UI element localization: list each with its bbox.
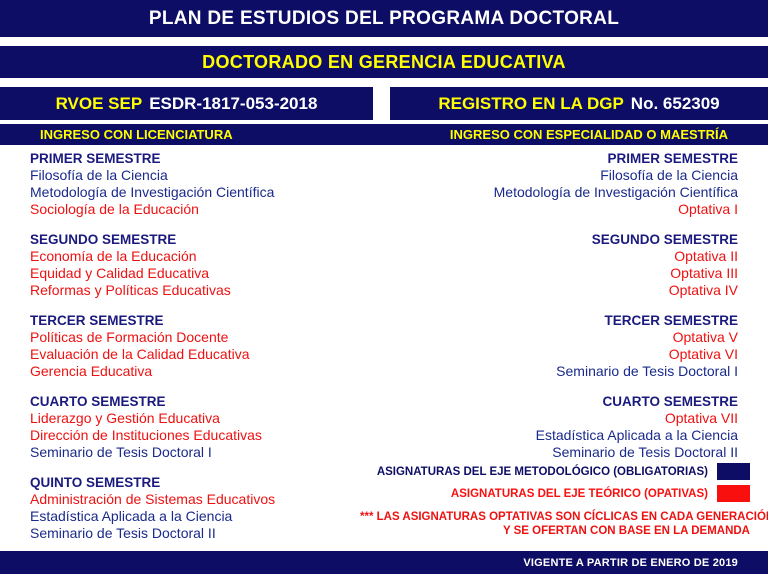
semester-block: SEGUNDO SEMESTREEconomía de la Educación… xyxy=(30,231,370,299)
semester-title: QUINTO SEMESTRE xyxy=(30,474,370,491)
semester-block: TERCER SEMESTREOptativa VOptativa VISemi… xyxy=(398,312,738,380)
course-item: Políticas de Formación Docente xyxy=(30,329,370,346)
semester-title: TERCER SEMESTRE xyxy=(398,312,738,329)
course-item: Metodología de Investigación Científica xyxy=(398,184,738,201)
semester-title: SEGUNDO SEMESTRE xyxy=(398,231,738,248)
course-item: Reformas y Políticas Educativas xyxy=(30,282,370,299)
legend-rows: ASIGNATURAS DEL EJE METODOLÓGICO (OBLIGA… xyxy=(360,462,750,503)
course-item: Estadística Aplicada a la Ciencia xyxy=(398,427,738,444)
course-item: Estadística Aplicada a la Ciencia xyxy=(30,508,370,525)
semester-block: PRIMER SEMESTREFilosofía de la CienciaMe… xyxy=(398,150,738,218)
semester-block: CUARTO SEMESTREOptativa VIIEstadística A… xyxy=(398,393,738,461)
dgp-label: REGISTRO EN LA DGP xyxy=(438,94,623,114)
course-item: Sociología de la Educación xyxy=(30,201,370,218)
course-item: Liderazgo y Gestión Educativa xyxy=(30,410,370,427)
semester-title: CUARTO SEMESTRE xyxy=(30,393,370,410)
course-item: Optativa VI xyxy=(398,346,738,363)
page-title: PLAN DE ESTUDIOS DEL PROGRAMA DOCTORAL xyxy=(149,8,619,30)
course-item: Optativa I xyxy=(398,201,738,218)
legend-row: ASIGNATURAS DEL EJE TEÓRICO (OPATIVAS) xyxy=(360,484,750,503)
course-item: Filosofía de la Ciencia xyxy=(30,167,370,184)
semester-block: PRIMER SEMESTREFilosofía de la CienciaMe… xyxy=(30,150,370,218)
legend-color-swatch xyxy=(717,463,750,480)
validity-text: VIGENTE A PARTIR DE ENERO DE 2019 xyxy=(523,557,738,569)
course-item: Gerencia Educativa xyxy=(30,363,370,380)
legend-note-line-2: Y SE OFERTAN CON BASE EN LA DEMANDA xyxy=(360,524,750,538)
ingreso-bar: INGRESO CON LICENCIATURA INGRESO CON ESP… xyxy=(0,124,768,145)
curriculum-column-maestria: PRIMER SEMESTREFilosofía de la CienciaMe… xyxy=(398,150,738,474)
course-item: Optativa V xyxy=(398,329,738,346)
semester-block: TERCER SEMESTREPolíticas de Formación Do… xyxy=(30,312,370,380)
ingreso-left-label: INGRESO CON LICENCIATURA xyxy=(40,127,233,142)
course-item: Optativa VII xyxy=(398,410,738,427)
program-title-bar: DOCTORADO EN GERENCIA EDUCATIVA xyxy=(0,46,768,78)
legend-note-line-1: *** LAS ASIGNATURAS OPTATIVAS SON CÍCLIC… xyxy=(360,510,750,524)
legend-row: ASIGNATURAS DEL EJE METODOLÓGICO (OBLIGA… xyxy=(360,462,750,481)
legend-color-swatch xyxy=(717,485,750,502)
semester-title: TERCER SEMESTRE xyxy=(30,312,370,329)
course-item: Dirección de Instituciones Educativas xyxy=(30,427,370,444)
rvoe-value: ESDR-1817-053-2018 xyxy=(149,94,317,114)
course-item: Optativa II xyxy=(398,248,738,265)
footer-bar: VIGENTE A PARTIR DE ENERO DE 2019 xyxy=(0,551,768,574)
course-item: Filosofía de la Ciencia xyxy=(398,167,738,184)
semester-title: SEGUNDO SEMESTRE xyxy=(30,231,370,248)
semester-title: CUARTO SEMESTRE xyxy=(398,393,738,410)
course-item: Optativa IV xyxy=(398,282,738,299)
curriculum-content: PRIMER SEMESTREFilosofía de la CienciaMe… xyxy=(0,150,768,544)
legend: ASIGNATURAS DEL EJE METODOLÓGICO (OBLIGA… xyxy=(360,462,750,538)
course-item: Economía de la Educación xyxy=(30,248,370,265)
course-item: Metodología de Investigación Científica xyxy=(30,184,370,201)
ingreso-right-label: INGRESO CON ESPECIALIDAD O MAESTRÍA xyxy=(450,127,728,142)
semester-title: PRIMER SEMESTRE xyxy=(30,150,370,167)
program-title: DOCTORADO EN GERENCIA EDUCATIVA xyxy=(202,52,566,73)
dgp-value: No. 652309 xyxy=(631,94,720,114)
legend-label: ASIGNATURAS DEL EJE METODOLÓGICO (OBLIGA… xyxy=(377,466,708,478)
legend-label: ASIGNATURAS DEL EJE TEÓRICO (OPATIVAS) xyxy=(451,488,708,500)
course-item: Equidad y Calidad Educativa xyxy=(30,265,370,282)
dgp-bar: REGISTRO EN LA DGP No. 652309 xyxy=(390,87,768,120)
course-item: Optativa III xyxy=(398,265,738,282)
course-item: Seminario de Tesis Doctoral II xyxy=(398,444,738,461)
rvoe-label: RVOE SEP xyxy=(56,94,143,114)
course-item: Seminario de Tesis Doctoral II xyxy=(30,525,370,542)
main-title-bar: PLAN DE ESTUDIOS DEL PROGRAMA DOCTORAL xyxy=(0,0,768,37)
semester-block: SEGUNDO SEMESTREOptativa IIOptativa IIIO… xyxy=(398,231,738,299)
course-item: Seminario de Tesis Doctoral I xyxy=(398,363,738,380)
course-item: Administración de Sistemas Educativos xyxy=(30,491,370,508)
course-item: Seminario de Tesis Doctoral I xyxy=(30,444,370,461)
semester-block: CUARTO SEMESTRELiderazgo y Gestión Educa… xyxy=(30,393,370,461)
course-item: Evaluación de la Calidad Educativa xyxy=(30,346,370,363)
curriculum-column-licenciatura: PRIMER SEMESTREFilosofía de la CienciaMe… xyxy=(30,150,370,555)
rvoe-bar: RVOE SEP ESDR-1817-053-2018 xyxy=(0,87,373,120)
semester-title: PRIMER SEMESTRE xyxy=(398,150,738,167)
semester-block: QUINTO SEMESTREAdministración de Sistema… xyxy=(30,474,370,542)
